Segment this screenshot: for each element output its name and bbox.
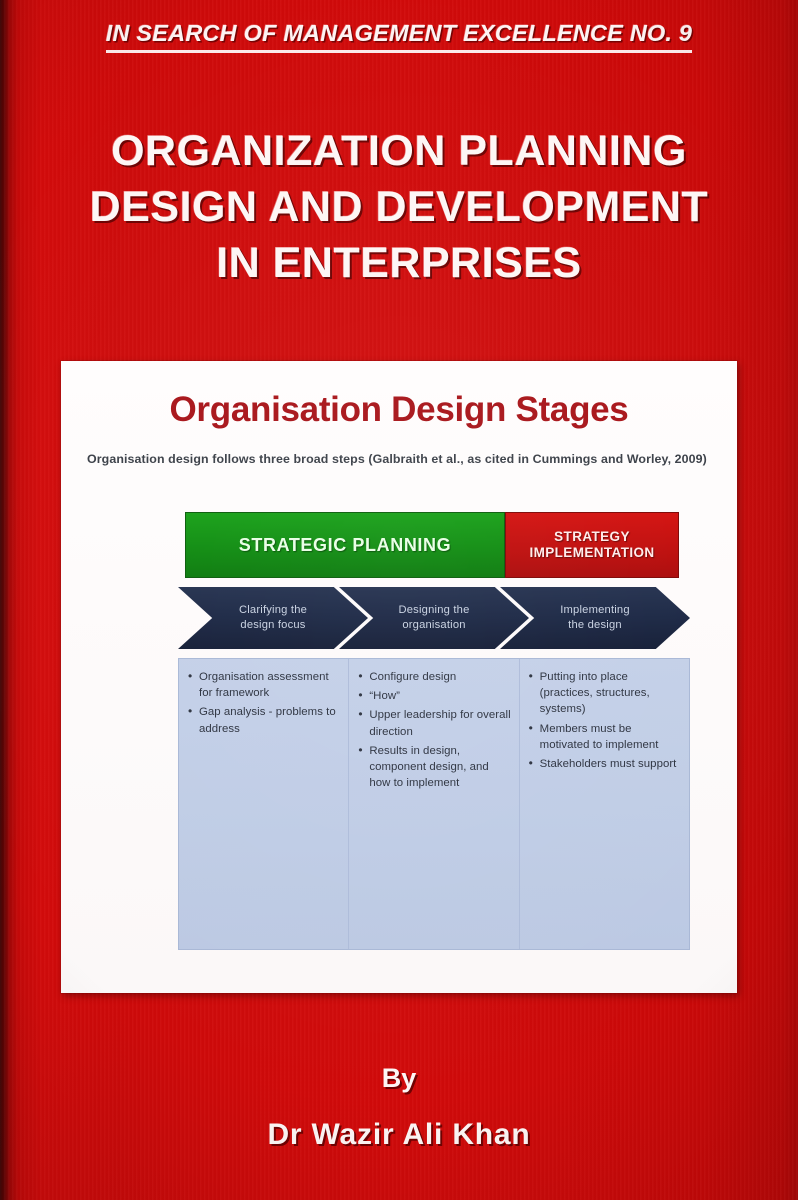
list-item: Gap analysis - problems to address xyxy=(187,704,340,736)
title-line-3: IN ENTERPRISES xyxy=(0,236,798,292)
phase-strategic-planning-label: STRATEGIC PLANNING xyxy=(239,535,451,556)
phase-banner: STRATEGIC PLANNING STRATEGY IMPLEMENTATI… xyxy=(185,512,679,578)
diagram-subtitle: Organisation design follows three broad … xyxy=(87,450,715,469)
list-item: Configure design xyxy=(357,669,510,685)
stage-chevrons: Clarifying the design focus Designing th… xyxy=(178,587,690,649)
diagram-heading: Organisation Design Stages xyxy=(61,390,737,430)
stage-detail-column-2: Configure design “How” Upper leadership … xyxy=(348,659,518,949)
stage-3-line1: Implementing xyxy=(560,603,630,618)
phase-strategy-implementation-label-line1: STRATEGY xyxy=(554,529,630,545)
book-title: ORGANIZATION PLANNING DESIGN AND DEVELOP… xyxy=(0,124,798,292)
phase-strategic-planning: STRATEGIC PLANNING xyxy=(185,512,505,578)
list-item: Stakeholders must support xyxy=(528,756,681,772)
list-item: Members must be motivated to implement xyxy=(528,721,681,753)
phase-strategy-implementation-label-line2: IMPLEMENTATION xyxy=(529,545,654,561)
diagram-panel: Organisation Design Stages Organisation … xyxy=(61,361,737,993)
stage-detail-panel: Organisation assessment for framework Ga… xyxy=(178,658,690,950)
list-item: Organisation assessment for framework xyxy=(187,669,340,701)
author-name: Dr Wazir Ali Khan xyxy=(0,1118,798,1152)
title-line-2: DESIGN AND DEVELOPMENT xyxy=(0,180,798,236)
list-item: Putting into place (practices, structure… xyxy=(528,669,681,718)
list-item: “How” xyxy=(357,688,510,704)
book-cover: IN SEARCH OF MANAGEMENT EXCELLENCE NO. 9… xyxy=(0,0,798,1200)
stage-detail-column-1: Organisation assessment for framework Ga… xyxy=(179,659,348,949)
series-banner: IN SEARCH OF MANAGEMENT EXCELLENCE NO. 9 xyxy=(0,20,798,53)
stage-2-bullet-list: Configure design “How” Upper leadership … xyxy=(357,669,510,791)
stage-2-line2: organisation xyxy=(402,618,465,633)
list-item: Upper leadership for overall direction xyxy=(357,707,510,739)
byline-label: By xyxy=(0,1063,798,1094)
diagram-panel-surface: Organisation Design Stages Organisation … xyxy=(61,361,737,993)
chevron-arrow-icon-stage-1: Clarifying the design focus xyxy=(178,587,368,649)
stage-3-line2: the design xyxy=(568,618,622,633)
stage-2-line1: Designing the xyxy=(398,603,469,618)
stage-1-line1: Clarifying the xyxy=(239,603,307,618)
stage-detail-column-3: Putting into place (practices, structure… xyxy=(519,659,689,949)
stage-1-bullet-list: Organisation assessment for framework Ga… xyxy=(187,669,340,737)
stage-3-bullet-list: Putting into place (practices, structure… xyxy=(528,669,681,772)
phase-strategy-implementation: STRATEGY IMPLEMENTATION xyxy=(505,512,679,578)
list-item: Results in design, component design, and… xyxy=(357,743,510,792)
stage-1-line2: design focus xyxy=(240,618,305,633)
title-line-1: ORGANIZATION PLANNING xyxy=(0,124,798,180)
series-label: IN SEARCH OF MANAGEMENT EXCELLENCE NO. 9 xyxy=(106,20,692,53)
